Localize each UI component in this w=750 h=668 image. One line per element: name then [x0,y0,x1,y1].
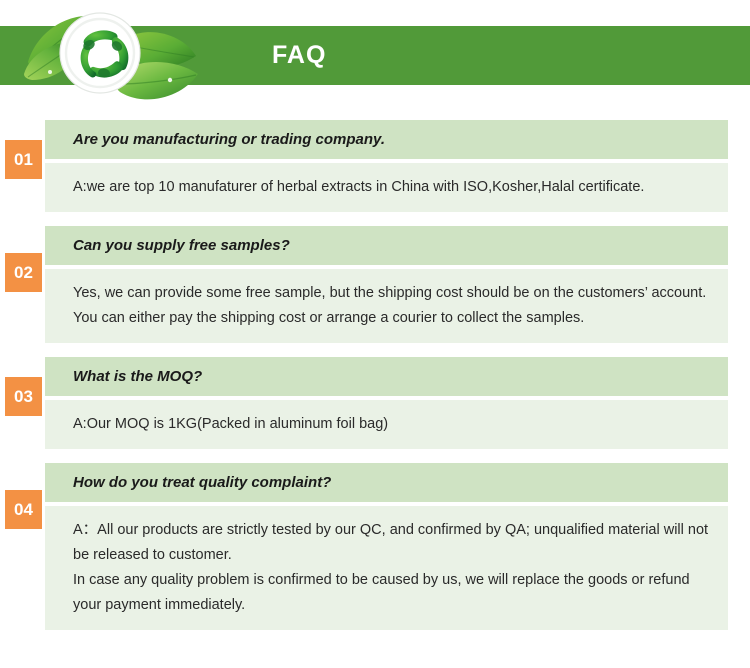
faq-question: Are you manufacturing or trading company… [45,120,728,159]
faq-answer: A:Our MOQ is 1KG(Packed in aluminum foil… [45,400,728,449]
page-header: FAQ [0,0,750,120]
faq-answer: A：All our products are strictly tested b… [45,506,728,630]
faq-answer-line: A:Our MOQ is 1KG(Packed in aluminum foil… [73,412,712,437]
faq-answer-line: A:we are top 10 manufaturer of herbal ex… [73,175,712,200]
faq-answer-line: A：All our products are strictly tested b… [73,518,712,568]
faq-question: What is the MOQ? [45,357,728,396]
leaf-recycle-logo [18,0,218,110]
faq-question: How do you treat quality complaint? [45,463,728,502]
faq-number-badge: 04 [5,490,42,529]
faq-item: 04 How do you treat quality complaint? A… [0,463,750,630]
faq-number-badge: 01 [5,140,42,179]
faq-answer: Yes, we can provide some free sample, bu… [45,269,728,343]
faq-item: 03 What is the MOQ? A:Our MOQ is 1KG(Pac… [0,357,750,449]
faq-answer: A:we are top 10 manufaturer of herbal ex… [45,163,728,212]
faq-list: 01 Are you manufacturing or trading comp… [0,120,750,630]
faq-item: 01 Are you manufacturing or trading comp… [0,120,750,212]
faq-question: Can you supply free samples? [45,226,728,265]
faq-answer-line: In case any quality problem is confirmed… [73,568,712,618]
faq-number-badge: 03 [5,377,42,416]
faq-number-badge: 02 [5,253,42,292]
page-title: FAQ [272,38,326,72]
faq-item: 02 Can you supply free samples? Yes, we … [0,226,750,343]
faq-answer-line: Yes, we can provide some free sample, bu… [73,281,712,331]
